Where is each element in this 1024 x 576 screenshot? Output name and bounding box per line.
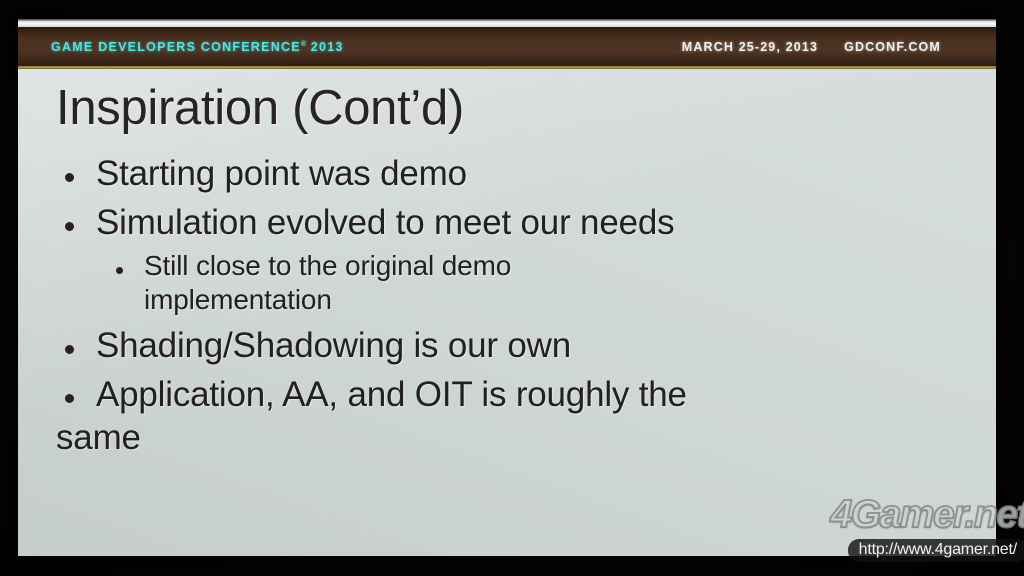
bullet-dot-icon (65, 173, 74, 182)
bullet-text: Shading/Shadowing is our own (96, 326, 571, 365)
bullet-text: Starting point was demo (96, 154, 467, 193)
sub-bullet-text-wrapped: implementation (144, 283, 958, 317)
bullet-dot-icon (65, 345, 74, 354)
list-item: Application, AA, and OIT is roughly the … (56, 373, 958, 460)
sub-bullet-dot-icon (116, 267, 123, 274)
sub-bullet-text: Still close to the original demo (144, 250, 511, 281)
page-title: Inspiration (Cont’d) (56, 83, 958, 134)
gdc-conference-logo: GAME DEVELOPERS CONFERENCE® 2013 (51, 40, 344, 54)
projected-slide-photo: GAME DEVELOPERS CONFERENCE® 2013 MARCH 2… (0, 0, 1024, 576)
sub-bullet-list: Still close to the original demo impleme… (56, 249, 958, 316)
projection-top-edge-glow (18, 19, 996, 27)
list-item: Starting point was demo (56, 152, 958, 195)
slide-body: Inspiration (Cont’d) Starting point was … (18, 69, 996, 556)
gdc-conference-name: GAME DEVELOPERS CONFERENCE (51, 40, 301, 54)
list-item: Simulation evolved to meet our needs (56, 201, 958, 244)
bullet-list: Starting point was demo Simulation evolv… (56, 152, 958, 459)
gdc-header-band: GAME DEVELOPERS CONFERENCE® 2013 MARCH 2… (18, 27, 996, 66)
gdc-website: GDCONF.COM (844, 40, 941, 54)
gdc-dates: MARCH 25-29, 2013 (682, 40, 818, 54)
list-item: Shading/Shadowing is our own (56, 324, 958, 367)
bullet-dot-icon (65, 394, 74, 403)
sub-list-item: Still close to the original demo impleme… (56, 249, 958, 316)
bullet-dot-icon (65, 222, 74, 231)
gdc-header-meta: MARCH 25-29, 2013 GDCONF.COM (682, 40, 941, 54)
bullet-text-wrapped: same (56, 416, 958, 459)
gdc-year: 2013 (311, 40, 344, 54)
presentation-slide: GAME DEVELOPERS CONFERENCE® 2013 MARCH 2… (18, 19, 996, 556)
registered-trademark-icon: ® (301, 40, 306, 47)
bullet-text: Application, AA, and OIT is roughly the (96, 375, 687, 414)
bullet-text: Simulation evolved to meet our needs (96, 203, 674, 242)
